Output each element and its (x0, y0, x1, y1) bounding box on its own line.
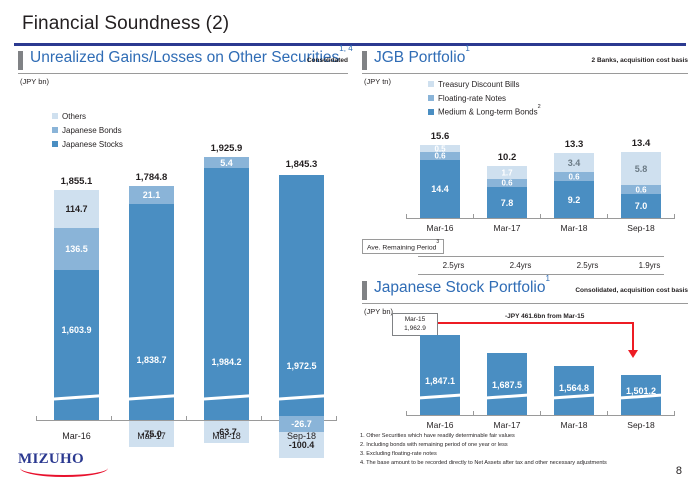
ave-remaining-period-superscript: 3 (436, 239, 439, 245)
jgb-axis-tick (540, 214, 541, 219)
unrealized-segment-bonds-mar-18: 5.4 (204, 157, 249, 168)
unrealized-segment-value-bonds-sep-18: -26.7 (279, 419, 324, 429)
jgb-segment-value-medium-long-mar-17: 7.8 (487, 198, 527, 208)
unrealized-legend: Others Japanese Bonds Japanese Stocks (52, 110, 123, 152)
ave-remaining-period-bottom-rule (418, 274, 664, 275)
panel-unrealized-unit: (JPY bn) (20, 77, 49, 86)
unrealized-total-label-mar-16: 1,855.1 (36, 176, 117, 187)
legend-label-floating-rate-notes: Floating-rate Notes (438, 94, 506, 103)
jgb-segment-value-floating-mar-16: 0.6 (420, 152, 460, 160)
unrealized-segment-stocks-mar-17: 1,838.7 (129, 204, 174, 420)
unrealized-segment-value-bonds-mar-16: 136.5 (54, 244, 99, 254)
legend-label-japanese-bonds: Japanese Bonds (62, 126, 122, 135)
jgb-total-label-sep-18: 13.4 (603, 138, 679, 149)
mizuho-logo-swoosh-icon (20, 468, 108, 477)
unrealized-bar-sep-18[interactable]: 1,845.3 1,972.5 -26.7 -100.4 Sep-18 (279, 150, 324, 450)
stock-chart: 1,847.1 Mar-16 1,687.5 Mar-17 1,564.8 Ma… (378, 330, 688, 430)
panel-unrealized-title-superscript: 1, 4 (339, 44, 352, 53)
footnote-3: 3. Excluding floating-rate notes (360, 450, 607, 459)
legend-label-treasury-discount-bills: Treasury Discount Bills (438, 80, 520, 89)
ave-remaining-period-top-rule (418, 256, 664, 257)
jgb-segment-medium-long-mar-17: 7.8 (487, 187, 527, 218)
legend-label-medium-long-term-bonds: Medium & Long-term Bonds2 (438, 107, 541, 117)
ave-remaining-period-value-mar-17: 2.4yrs (487, 261, 554, 270)
ave-remaining-period-label-text: Ave. Remaining Period (367, 244, 436, 251)
panel-unrealized-rule (18, 73, 348, 74)
unrealized-segment-bonds-mar-17: 21.1 (129, 186, 174, 204)
legend-label-others: Others (62, 112, 86, 121)
panel-stock-note: Consolidated, acquisition cost basis (575, 287, 688, 294)
jgb-bar-sep-18[interactable]: 13.4 5.8 0.6 7.0 Sep-18 (621, 126, 661, 236)
stock-value-label-mar-17: 1,687.5 (487, 380, 527, 390)
stock-segment-mar-16: 1,847.1 (420, 335, 460, 415)
panel-jgb-note: 2 Banks, acquisition cost basis (592, 57, 688, 64)
unrealized-axis-tick (111, 416, 112, 421)
stock-value-label-sep-18: 1,501.2 (621, 386, 661, 396)
panel-stock-header: Japanese Stock Portfolio1 Consolidated, … (362, 280, 688, 302)
unrealized-segment-value-stocks-mar-18: 1,984.2 (204, 357, 249, 367)
panel-jgb-title-superscript: 1 (465, 44, 469, 53)
legend-item-others: Others (52, 110, 123, 122)
panel-jgb-title-text: JGB Portfolio (374, 49, 465, 66)
panel-stock-unit: (JPY bn) (364, 307, 393, 316)
unrealized-category-label-sep-18: Sep-18 (257, 431, 346, 441)
jgb-axis-tick (406, 214, 407, 219)
jgb-segment-value-treasury-mar-18: 3.4 (554, 158, 594, 168)
unrealized-axis-tick (36, 416, 37, 421)
jgb-bar-mar-18[interactable]: 13.3 3.4 0.6 9.2 Mar-18 (554, 126, 594, 236)
panel-jgb-rule (362, 73, 688, 74)
stock-bar-mar-18[interactable]: 1,564.8 Mar-18 (554, 330, 594, 430)
jgb-segment-value-treasury-sep-18: 5.8 (621, 164, 661, 174)
panel-unrealized-title-text: Unrealized Gains/Losses on Other Securit… (30, 49, 339, 66)
panel-unrealized-accent-bar (18, 51, 23, 70)
jgb-segment-value-floating-mar-18: 0.6 (554, 172, 594, 181)
jgb-segment-floating-sep-18: 0.6 (621, 185, 661, 194)
jgb-segment-value-floating-sep-18: 0.6 (621, 185, 661, 194)
footnote-4: 4. The base amount to be recorded direct… (360, 459, 607, 468)
panel-stock-rule (362, 303, 688, 304)
panel-unrealized-note: Consolidated (307, 57, 348, 64)
legend-swatch-others-icon (52, 113, 58, 119)
unrealized-bar-mar-17[interactable]: 1,784.8 21.1 1,838.7 -75.0 Mar-17 (129, 150, 174, 450)
stock-segment-mar-18: 1,564.8 (554, 366, 594, 415)
baseline-callout-period: Mar-15 (395, 315, 435, 324)
jgb-segment-floating-mar-17: 0.6 (487, 179, 527, 187)
jgb-axis-tick (607, 214, 608, 219)
stock-axis-tick (674, 411, 675, 416)
unrealized-segment-stocks-sep-18: 1,972.5 (279, 175, 324, 420)
panel-jgb-accent-bar (362, 51, 367, 70)
legend-item-treasury-discount-bills: Treasury Discount Bills (428, 78, 541, 90)
stock-bar-mar-17[interactable]: 1,687.5 Mar-17 (487, 330, 527, 430)
panel-jgb-header: JGB Portfolio1 2 Banks, acquisition cost… (362, 50, 688, 72)
stock-segment-sep-18: 1,501.2 (621, 375, 661, 415)
jgb-segment-medium-long-sep-18: 7.0 (621, 194, 661, 218)
legend-label-japanese-stocks: Japanese Stocks (62, 140, 123, 149)
stock-bar-sep-18[interactable]: 1,501.2 Sep-18 (621, 330, 661, 430)
footnote-1: 1. Other Securities which have readily d… (360, 432, 607, 441)
legend-swatch-floating-rate-notes-icon (428, 95, 434, 101)
ave-remaining-period-value-mar-16: 2.5yrs (420, 261, 487, 270)
unrealized-segment-bonds-sep-18: -26.7 (279, 416, 324, 432)
stock-axis-tick (607, 411, 608, 416)
mizuho-logo-text: MIZUHO (18, 451, 114, 468)
unrealized-bar-mar-16[interactable]: 1,855.1 114.7 136.5 1,603.9 Mar-16 (54, 150, 99, 450)
stock-segment-mar-17: 1,687.5 (487, 353, 527, 415)
jgb-category-label-sep-18: Sep-18 (599, 223, 683, 233)
unrealized-segment-bonds-mar-16: 136.5 (54, 228, 99, 270)
unrealized-segment-stocks-mar-16: 1,603.9 (54, 270, 99, 420)
ave-remaining-period-value-sep-18: 1.9yrs (621, 261, 678, 270)
panel-unrealized-title: Unrealized Gains/Losses on Other Securit… (30, 49, 353, 67)
unrealized-chart: 1,855.1 114.7 136.5 1,603.9 Mar-16 1,784… (18, 150, 348, 450)
jgb-segment-medium-long-mar-18: 9.2 (554, 181, 594, 218)
footnotes: 1. Other Securities which have readily d… (360, 432, 607, 468)
baseline-connector-line (438, 322, 634, 324)
unrealized-total-label-sep-18: 1,845.3 (261, 159, 342, 170)
unrealized-bar-mar-18[interactable]: 1,925.9 5.4 1,984.2 -63.7 Mar-18 (204, 150, 249, 450)
jgb-total-label-mar-17: 10.2 (469, 152, 545, 163)
jgb-bar-mar-16[interactable]: 15.6 0.5 0.6 14.4 Mar-16 (420, 126, 460, 236)
legend-item-japanese-stocks: Japanese Stocks (52, 138, 123, 150)
stock-axis-tick (473, 411, 474, 416)
unrealized-segment-value-others-mar-16: 114.7 (54, 204, 99, 214)
jgb-segment-medium-long-mar-16: 14.4 (420, 160, 460, 218)
legend-label-medium-long-term-bonds-superscript: 2 (538, 104, 541, 110)
stock-axis-tick (406, 411, 407, 416)
panel-stock-accent-bar (362, 281, 367, 300)
unrealized-axis-tick (186, 416, 187, 421)
panel-jgb-unit: (JPY tn) (364, 77, 391, 86)
jgb-segment-value-medium-long-mar-18: 9.2 (554, 195, 594, 205)
legend-swatch-medium-long-term-bonds-icon (428, 109, 434, 115)
unrealized-segment-value-stocks-mar-16: 1,603.9 (54, 325, 99, 335)
unrealized-segment-value-bonds-mar-17: 21.1 (129, 190, 174, 200)
unrealized-segment-value-bonds-mar-18: 5.4 (204, 158, 249, 168)
jgb-segment-value-treasury-mar-17: 1.7 (487, 168, 527, 177)
unrealized-total-label-mar-18: 1,925.9 (186, 143, 267, 154)
panel-jgb: JGB Portfolio1 2 Banks, acquisition cost… (362, 50, 688, 72)
stock-value-label-mar-16: 1,847.1 (420, 376, 460, 386)
jgb-segment-value-medium-long-sep-18: 7.0 (621, 201, 661, 211)
jgb-segment-value-medium-long-mar-16: 14.4 (420, 184, 460, 194)
panel-jgb-title: JGB Portfolio1 (374, 49, 470, 67)
stock-bar-mar-16[interactable]: 1,847.1 Mar-16 (420, 330, 460, 430)
panel-stock-title-text: Japanese Stock Portfolio (374, 279, 545, 296)
footnote-2: 2. Including bonds with remaining period… (360, 441, 607, 450)
unrealized-axis-tick (336, 416, 337, 421)
delta-annotation: -JPY 461.6bn from Mar-15 (505, 313, 584, 320)
jgb-segment-value-floating-mar-17: 0.6 (487, 179, 527, 187)
stock-axis-tick (540, 411, 541, 416)
panel-stock-title: Japanese Stock Portfolio1 (374, 279, 550, 297)
unrealized-axis-tick (261, 416, 262, 421)
stock-value-label-mar-18: 1,564.8 (554, 383, 594, 393)
jgb-axis-tick (473, 214, 474, 219)
panel-unrealized: Unrealized Gains/Losses on Other Securit… (18, 50, 348, 72)
unrealized-total-label-mar-17: 1,784.8 (111, 172, 192, 183)
legend-swatch-japanese-bonds-icon (52, 127, 58, 133)
jgb-total-label-mar-16: 15.6 (402, 131, 478, 142)
panel-stock-title-superscript: 1 (545, 274, 549, 283)
jgb-segment-value-treasury-mar-16: 0.5 (420, 145, 460, 152)
legend-item-japanese-bonds: Japanese Bonds (52, 124, 123, 136)
slide-root: Financial Soundness (2) Unrealized Gains… (0, 0, 700, 485)
mizuho-logo: MIZUHO (18, 451, 114, 477)
stock-category-label-sep-18: Sep-18 (599, 420, 683, 430)
unrealized-segment-value-stocks-sep-18: 1,972.5 (279, 361, 324, 371)
legend-swatch-japanese-stocks-icon (52, 141, 58, 147)
panel-stock: Japanese Stock Portfolio1 Consolidated, … (362, 280, 688, 302)
unrealized-segment-value-others-sep-18: -100.4 (279, 440, 324, 450)
jgb-segment-treasury-mar-16: 0.5 (420, 145, 460, 152)
ave-remaining-period-value-mar-18: 2.5yrs (554, 261, 621, 270)
jgb-bar-mar-17[interactable]: 10.2 1.7 0.6 7.8 Mar-17 (487, 126, 527, 236)
ave-remaining-period-label: Ave. Remaining Period3 (362, 239, 444, 254)
legend-item-medium-long-term-bonds: Medium & Long-term Bonds2 (428, 106, 541, 118)
jgb-segment-treasury-mar-18: 3.4 (554, 153, 594, 172)
jgb-total-label-mar-18: 13.3 (536, 139, 612, 150)
unrealized-segment-others-mar-16: 114.7 (54, 190, 99, 228)
jgb-legend: Treasury Discount Bills Floating-rate No… (428, 78, 541, 120)
page-number: 8 (676, 465, 682, 477)
jgb-chart: 15.6 0.5 0.6 14.4 Mar-16 10.2 1.7 0.6 7.… (378, 126, 688, 236)
page-title: Financial Soundness (2) (22, 13, 229, 35)
unrealized-segment-value-stocks-mar-17: 1,838.7 (129, 355, 174, 365)
jgb-segment-treasury-sep-18: 5.8 (621, 152, 661, 185)
panel-unrealized-header: Unrealized Gains/Losses on Other Securit… (18, 50, 348, 72)
legend-item-floating-rate-notes: Floating-rate Notes (428, 92, 541, 104)
legend-swatch-treasury-discount-bills-icon (428, 81, 434, 87)
legend-label-medium-long-term-bonds-text: Medium & Long-term Bonds (438, 108, 538, 117)
jgb-segment-treasury-mar-17: 1.7 (487, 166, 527, 179)
jgb-segment-floating-mar-16: 0.6 (420, 152, 460, 160)
unrealized-segment-stocks-mar-18: 1,984.2 (204, 168, 249, 420)
jgb-segment-floating-mar-18: 0.6 (554, 172, 594, 181)
jgb-axis-tick (674, 214, 675, 219)
